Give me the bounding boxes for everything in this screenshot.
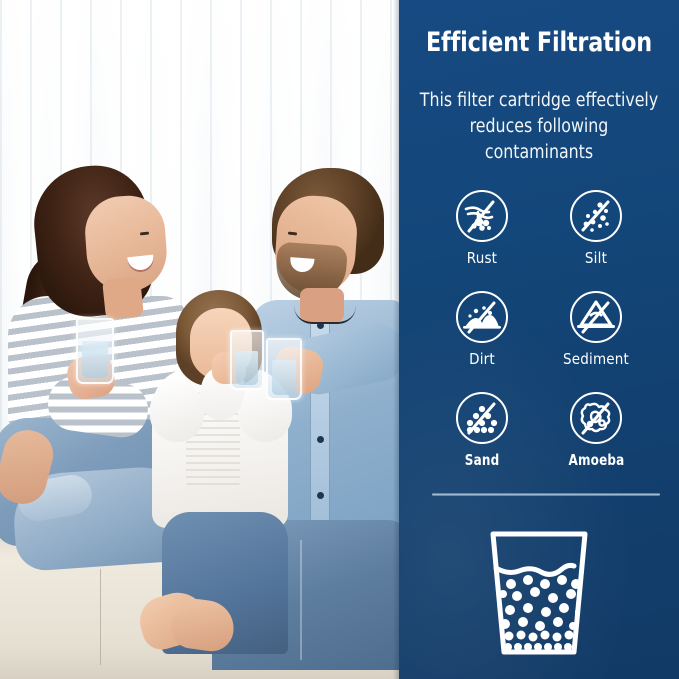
contaminant-label-rust: Rust [467, 249, 497, 267]
contaminant-item-sediment[interactable]: Sediment [539, 291, 653, 368]
girl-sleeve-left [150, 382, 204, 442]
contaminant-item-amoeba[interactable]: Amoeba [539, 392, 653, 469]
dirt-blocked-icon [456, 291, 508, 343]
rust-blocked-icon [456, 190, 508, 242]
contaminant-item-silt[interactable]: Silt [539, 190, 653, 267]
water-glass-man [266, 338, 302, 400]
man-jeans-seam [300, 540, 302, 660]
man-necklace [294, 306, 356, 324]
contaminant-label-amoeba: Amoeba [568, 451, 624, 469]
contaminant-item-rust[interactable]: Rust [425, 190, 539, 267]
contaminant-label-dirt: Dirt [469, 350, 495, 368]
amoeba-blocked-icon [570, 392, 622, 444]
contaminant-grid: Rust [425, 190, 653, 469]
contaminant-item-sand[interactable]: Sand [425, 392, 539, 469]
sediment-blocked-icon [570, 291, 622, 343]
woman-neck [102, 276, 144, 320]
water-glass-girl [230, 330, 264, 390]
panel-subtitle: This filter cartridge effectively reduce… [419, 88, 658, 166]
product-feature-graphic: Efficient Filtration This filter cartrid… [0, 0, 679, 679]
contaminant-label-sediment: Sediment [563, 350, 629, 368]
hero-glass-wrap [399, 520, 679, 666]
info-panel: Efficient Filtration This filter cartrid… [399, 0, 679, 679]
couch-cushion-left [0, 559, 110, 679]
contaminant-item-dirt[interactable]: Dirt [425, 291, 539, 368]
family-photo [0, 0, 399, 679]
contaminant-label-silt: Silt [585, 249, 607, 267]
couch-seam-1 [100, 569, 101, 665]
water-glass-icon [473, 520, 605, 666]
man-shirt-button [317, 492, 324, 499]
section-divider [432, 493, 660, 496]
sand-blocked-icon [456, 392, 508, 444]
panel-title: Efficient Filtration [410, 27, 668, 58]
man-shirt-button [317, 436, 324, 443]
contaminant-label-sand: Sand [465, 451, 500, 469]
water-glass-woman [76, 318, 114, 384]
silt-blocked-icon [570, 190, 622, 242]
